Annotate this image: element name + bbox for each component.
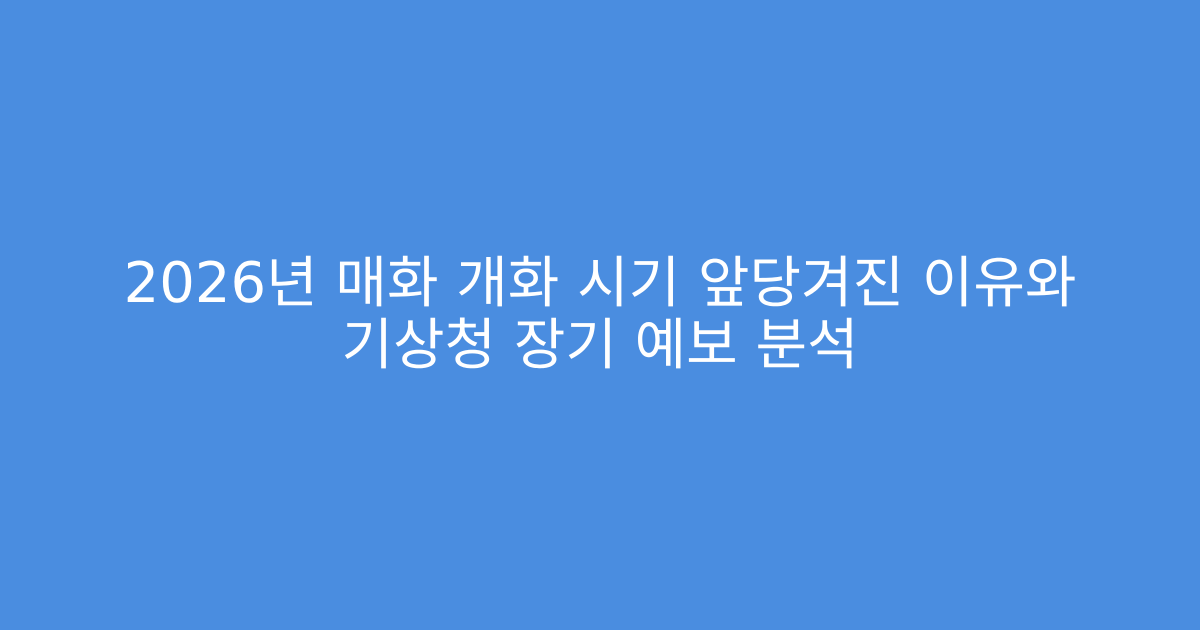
page-title: 2026년 매화 개화 시기 앞당겨진 이유와 기상청 장기 예보 분석 bbox=[100, 253, 1100, 377]
title-block: 2026년 매화 개화 시기 앞당겨진 이유와 기상청 장기 예보 분석 bbox=[100, 253, 1100, 377]
og-share-card: 2026년 매화 개화 시기 앞당겨진 이유와 기상청 장기 예보 분석 bbox=[0, 0, 1200, 630]
